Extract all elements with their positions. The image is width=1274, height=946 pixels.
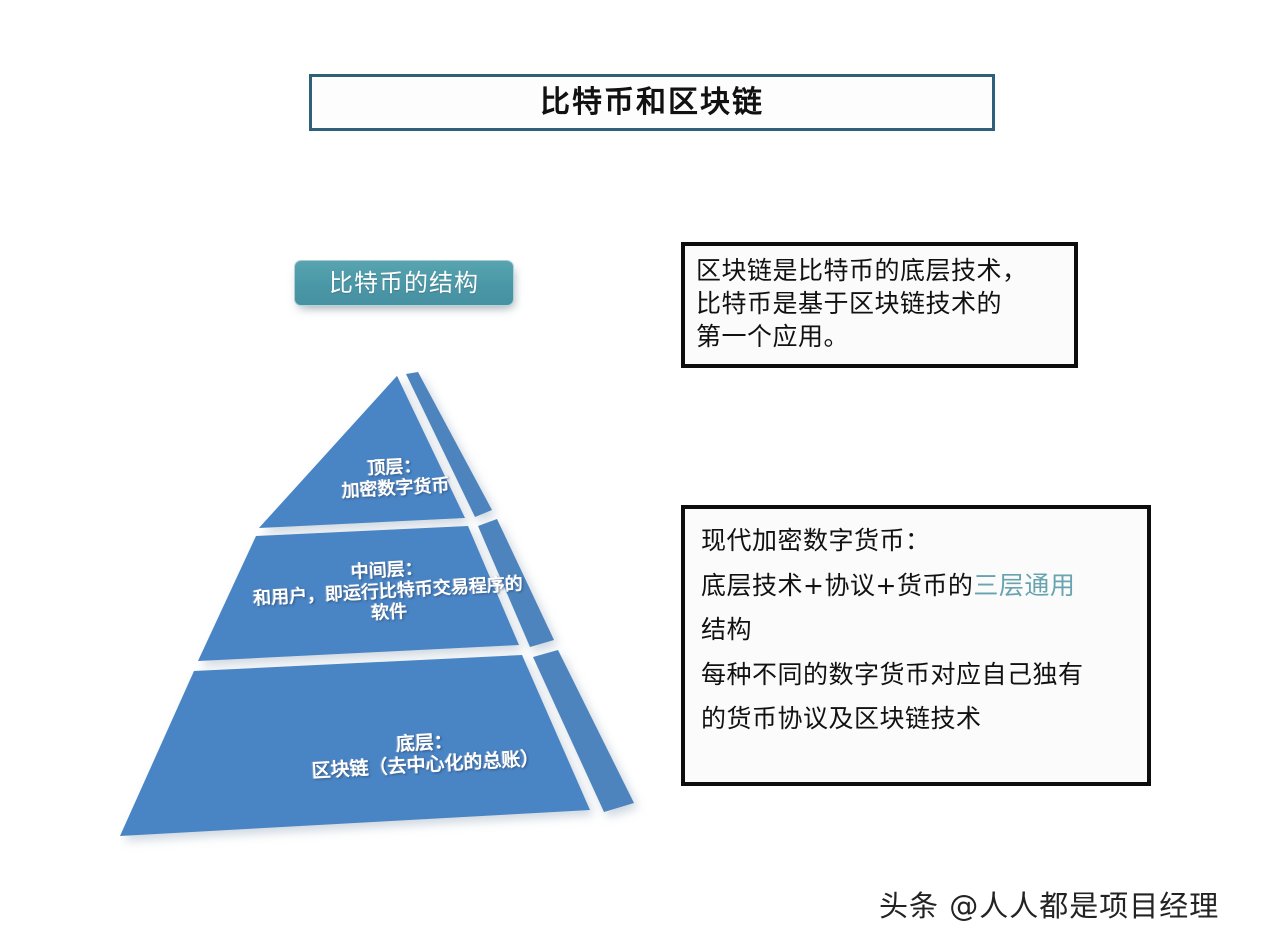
pyramid-svg: [120, 360, 680, 890]
info-bottom-line-2: 底层技术+协议+货币的三层通用: [701, 571, 1131, 602]
bitcoin-structure-pyramid: 顶层： 加密数字货币 中间层： 和用户，即运行比特币交易程序的 软件 底层： 区…: [120, 360, 680, 890]
info-top-line-1: 区块链是比特币的底层技术，: [696, 254, 1063, 287]
info-bottom-line-2-highlight: 三层通用: [973, 571, 1075, 600]
structure-label-pill: 比特币的结构: [294, 260, 514, 306]
info-bottom-line-2-plain: 底层技术+协议+货币的: [701, 571, 973, 600]
info-bottom-line-4: 每种不同的数字货币对应自己独有: [701, 660, 1131, 691]
page-title: 比特币和区块链: [540, 88, 764, 118]
info-bottom-line-3: 结构: [701, 615, 1131, 646]
pyramid-front-top-face: [259, 376, 465, 528]
pyramid-front-middle-layer: [198, 526, 519, 661]
info-box-modern-crypto: 现代加密数字货币： 底层技术+协议+货币的三层通用 结构 每种不同的数字货币对应…: [681, 505, 1151, 786]
info-bottom-heading: 现代加密数字货币：: [701, 526, 1131, 557]
pyramid-front-bottom-layer: [120, 655, 590, 836]
info-box-blockchain-definition: 区块链是比特币的底层技术， 比特币是基于区块链技术的 第一个应用。: [681, 242, 1078, 368]
info-top-line-3: 第一个应用。: [696, 320, 1063, 353]
watermark: 头条 @人人都是项目经理: [879, 883, 1219, 925]
page-title-box: 比特币和区块链: [309, 74, 995, 131]
structure-label-text: 比特币的结构: [329, 271, 479, 295]
info-top-line-2: 比特币是基于区块链技术的: [696, 287, 1063, 320]
info-bottom-line-5: 的货币协议及区块链技术: [701, 704, 1131, 735]
